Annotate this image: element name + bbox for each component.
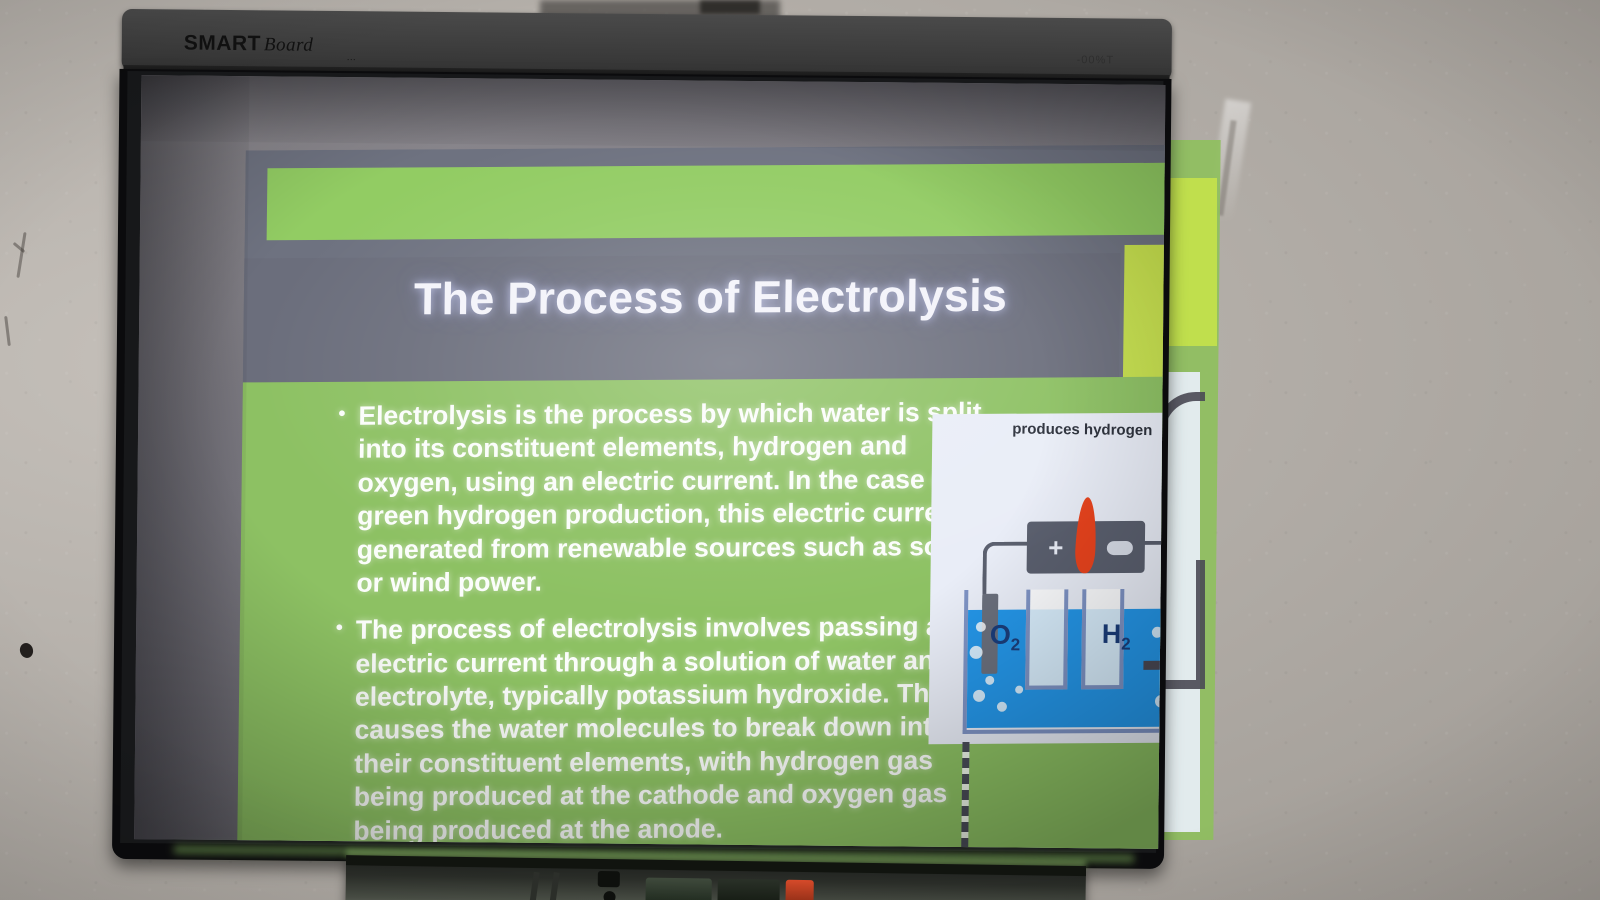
bullet-item: • The process of electrolysis involves p… [333,610,996,848]
diagram-caption: produces hydrogen [932,420,1165,440]
tray-sensor-module [598,871,620,887]
ceiling-shadow [700,0,760,14]
marker-pen[interactable] [645,878,711,900]
marker-pen-tray[interactable] [345,855,1086,900]
outflow-arrow-stem [1143,661,1165,670]
bullet-text: Electrolysis is the process by which wat… [356,396,999,600]
classroom-photo: SMARTBoard ... -00%T The Process of Elec… [0,0,1600,900]
presentation-slide: The Process of Electrolysis • Electrolys… [237,144,1166,849]
bubble-icon [1152,627,1163,638]
bullet-item: • Electrolysis is the process by which w… [336,396,999,600]
hydrogen-symbol: H [1102,619,1122,649]
smart-board-logo: SMARTBoard [184,32,314,57]
gas-collection-tube-left [1025,589,1068,689]
tray-clip [550,872,560,900]
marker-pen-red[interactable] [785,880,813,900]
bullet-marker-icon: • [336,400,358,600]
logo-trademark-dots: ... [347,51,356,63]
projection-screen[interactable]: The Process of Electrolysis • Electrolys… [134,75,1165,849]
board-frame: The Process of Electrolysis • Electrolys… [112,69,1172,869]
smart-board-unit: SMARTBoard ... -00%T The Process of Elec… [114,9,1184,871]
hydrogen-subscript: 2 [1121,635,1131,654]
battery-negative-label [1107,541,1133,555]
oxygen-symbol: O [990,620,1011,650]
battery-positive-label: + [1043,537,1069,559]
electrolysis-diagram: produces hydrogen + [928,412,1165,744]
tray-button[interactable] [603,891,615,900]
oxygen-subscript: 2 [1011,635,1021,654]
screen-unlit-margin-top [141,75,1166,151]
bullet-text: The process of electrolysis involves pas… [353,610,996,848]
slide-title: The Process of Electrolysis [414,269,1115,325]
board-frame-inner: The Process of Electrolysis • Electrolys… [120,71,1163,853]
brand-primary-text: SMART [184,32,261,56]
bubble-icon [1155,695,1166,708]
brand-secondary-text: Board [264,34,313,55]
tray-clip [530,872,540,900]
slide-top-green-band [267,162,1166,240]
marker-pen[interactable] [717,879,779,900]
screen-unlit-margin-left [134,75,249,840]
oxygen-label: O2 [990,620,1021,656]
dashed-pipe-vertical [961,742,970,849]
slide-bullet-list: • Electrolysis is the process by which w… [333,396,999,849]
board-model-label: -00%T [1077,54,1115,66]
electrode-cathode [1161,593,1165,673]
hydrogen-label: H2 [1102,619,1131,655]
